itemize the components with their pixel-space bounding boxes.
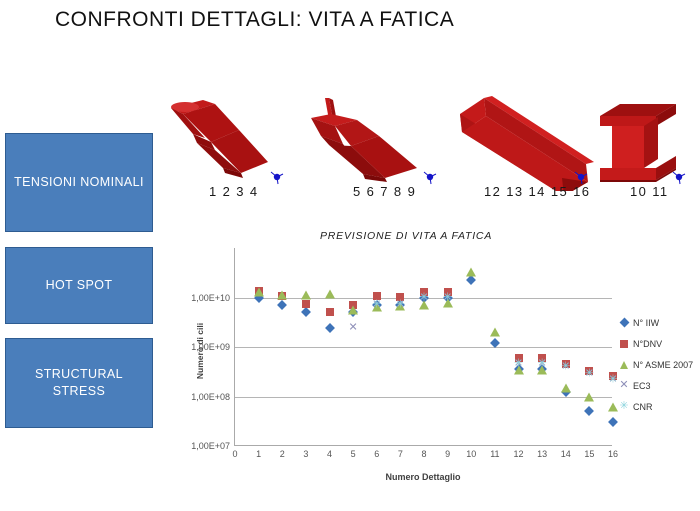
chart-data-point: ✕ [349,324,358,333]
chart-data-point [584,392,594,401]
chart-data-point [326,308,334,316]
chart-data-point [608,403,618,412]
x-axis-tick-label: 16 [608,449,618,459]
chart-title: PREVISIONE DI VITA A FATICA [320,230,492,242]
detail-caption: 12 13 14 15 16 [484,184,590,199]
x-axis-tick-label: 9 [445,449,450,459]
chart-plot-area: 1,00E+101,00E+091,00E+081,00E+0701234567… [234,248,612,446]
y-axis-tick-label: 1,00E+09 [191,342,230,352]
x-marker-icon: ✕ [618,380,630,391]
chart-data-point [561,383,571,392]
legend-item-n-iiw[interactable]: N° IIW [618,312,700,333]
x-axis-tick-label: 3 [303,449,308,459]
y-axis-tick-label: 1,00E+08 [191,392,230,402]
chart-data-point [608,417,618,427]
x-axis-tick-label: 5 [351,449,356,459]
x-axis-tick-label: 6 [374,449,379,459]
x-axis-tick-label: 2 [280,449,285,459]
detail-render-plate-with-stiffener: 5 6 7 8 9 [305,90,445,205]
detail-render-channel-profile: 12 13 14 15 16 [448,86,608,206]
chart-data-point [325,290,335,299]
chart-data-point: ✳ [443,293,452,302]
category-box-structural-stress[interactable]: STRUCTURAL STRESS [5,338,153,428]
chart-data-point [584,406,594,416]
x-axis-title: Numero Dettaglio [233,472,613,482]
legend-item-cnr[interactable]: ✳CNR [618,396,700,417]
square-marker-icon [618,340,630,348]
x-axis-tick-label: 10 [466,449,476,459]
chart-data-point: ✳ [608,375,617,384]
legend-item-label: CNR [633,402,653,412]
chart-data-point [490,328,500,337]
legend-item-n-dnv[interactable]: N°DNV [618,333,700,354]
chart-data-point [301,291,311,300]
x-axis-tick-label: 7 [398,449,403,459]
chart-data-point [325,323,335,333]
x-axis-tick-label: 0 [232,449,237,459]
chart-data-point: ✳ [585,369,594,378]
star-marker-icon: ✳ [618,401,630,412]
x-axis-tick-label: 4 [327,449,332,459]
chart-data-point [277,291,287,300]
axis-triad-icon [421,168,439,186]
chart-data-point [301,307,311,317]
legend-item-n-asme-2007[interactable]: N° ASME 2007 [618,354,700,375]
axis-triad-icon [670,168,688,186]
category-box-hot-spot[interactable]: HOT SPOT [5,247,153,324]
category-box-label: HOT SPOT [42,277,117,294]
x-axis-tick-label: 8 [421,449,426,459]
legend-item-ec3[interactable]: ✕EC3 [618,375,700,396]
chart-data-point: ✳ [514,359,523,368]
y-axis-tick-label: 1,00E+10 [191,293,230,303]
chart-data-point: ✳ [538,359,547,368]
y-axis-tick-label: 1,00E+07 [191,441,230,451]
detail-caption: 5 6 7 8 9 [353,184,416,199]
x-axis-tick-label: 13 [537,449,547,459]
category-box-tensioni-nominali[interactable]: TENSIONI NOMINALI [5,133,153,232]
chart-data-point [466,267,476,276]
chart-data-point [254,287,264,296]
chart-data-point [302,300,310,308]
chart-gridline [235,347,612,348]
detail-render-plate-with-attachment: 1 2 3 4 [163,90,293,205]
detail-caption: 1 2 3 4 [209,184,259,199]
chart-legend: N° IIWN°DNVN° ASME 2007✕EC3✳CNR [618,312,700,417]
x-axis-tick-label: 15 [584,449,594,459]
x-axis-tick-label: 11 [490,449,499,459]
chart-data-point [277,300,287,310]
legend-item-label: N° ASME 2007 [633,360,693,370]
chart-data-point: ✳ [419,293,428,302]
diamond-marker-icon [618,319,630,326]
x-axis-tick-label: 14 [561,449,571,459]
chart-data-point: ✳ [561,363,570,372]
legend-item-label: N° IIW [633,318,659,328]
category-box-label: STRUCTURAL STRESS [6,366,152,400]
page-title: CONFRONTI DETTAGLI: VITA A FATICA [55,8,454,32]
detail-render-i-beam-profile: 10 11 [592,86,697,206]
chart-data-point: ✳ [396,301,405,310]
x-axis-tick-label: 12 [513,449,523,459]
category-box-label: TENSIONI NOMINALI [10,174,148,191]
chart-data-point [348,306,358,315]
fatigue-life-chart: PREVISIONE DI VITA A FATICA Numero di ci… [178,228,700,493]
triangle-marker-icon [618,361,630,369]
legend-item-label: N°DNV [633,339,662,349]
detail-caption: 10 11 [630,184,669,199]
x-axis-tick-label: 1 [256,449,261,459]
chart-data-point: ✳ [372,301,381,310]
legend-item-label: EC3 [633,381,651,391]
axis-triad-icon [268,168,286,186]
chart-gridline [235,397,612,398]
